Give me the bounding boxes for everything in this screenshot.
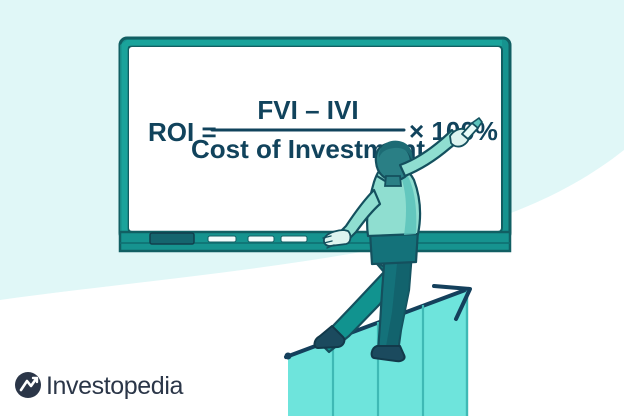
marker-3	[281, 236, 307, 242]
marker-2	[248, 236, 274, 242]
eraser	[150, 233, 194, 244]
illustration-canvas: ROI = FVI – IVI Cost of Investment × 100…	[0, 0, 624, 416]
investopedia-wordmark: Investopedia	[46, 372, 183, 400]
marker-1	[208, 236, 236, 242]
person-neck	[385, 176, 401, 186]
person-shoe-front	[372, 346, 405, 361]
investopedia-mark-icon	[15, 372, 41, 398]
formula-numerator: FVI – IVI	[257, 95, 358, 125]
ramp-start-dot	[285, 353, 292, 360]
marker-tray	[120, 232, 510, 251]
